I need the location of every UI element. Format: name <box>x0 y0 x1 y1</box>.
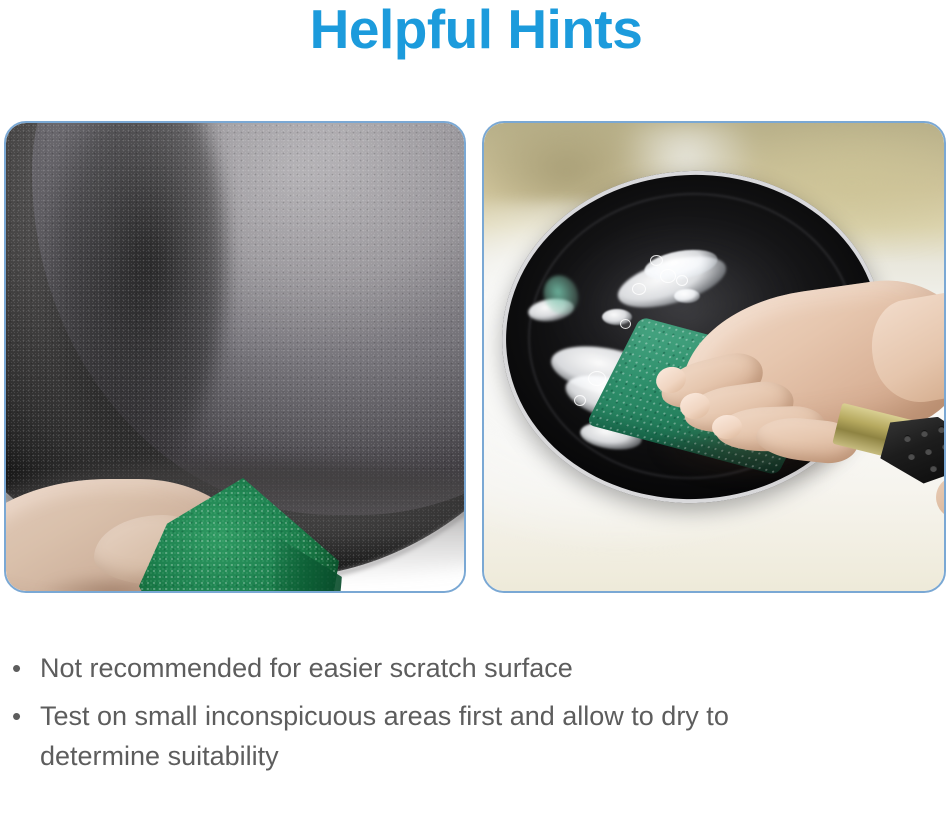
soap-suds <box>674 289 700 303</box>
soap-bubble <box>588 371 606 386</box>
soap-bubble <box>660 269 676 283</box>
soap-bubble <box>676 275 688 286</box>
helpful-hints-page: Helpful Hints <box>0 0 952 813</box>
hint-text: Not recommended for easier scratch surfa… <box>40 648 840 688</box>
handle-hole <box>942 443 944 450</box>
panel-right-image <box>484 123 944 591</box>
hints-list: • Not recommended for easier scratch sur… <box>12 648 892 784</box>
bullet-point-icon: • <box>12 648 40 688</box>
hint-text: Test on small inconspicuous areas first … <box>40 696 830 776</box>
handle-hole <box>930 465 937 472</box>
handle-hole <box>908 453 915 460</box>
bullet-point-icon: • <box>12 696 40 736</box>
image-panel-right <box>482 121 946 593</box>
handle-hole <box>904 435 911 442</box>
list-item: • Test on small inconspicuous areas firs… <box>12 696 892 776</box>
page-title: Helpful Hints <box>0 0 952 60</box>
soap-bubble <box>632 283 646 295</box>
panel-left-image <box>6 123 464 591</box>
soap-bubble <box>574 395 586 406</box>
handle-hole <box>925 448 932 455</box>
handle-hole <box>921 430 928 437</box>
soap-bubble <box>650 255 663 266</box>
image-panel-left <box>4 121 466 593</box>
handle-hole <box>938 426 944 433</box>
list-item: • Not recommended for easier scratch sur… <box>12 648 892 688</box>
soap-bubble <box>620 319 631 329</box>
